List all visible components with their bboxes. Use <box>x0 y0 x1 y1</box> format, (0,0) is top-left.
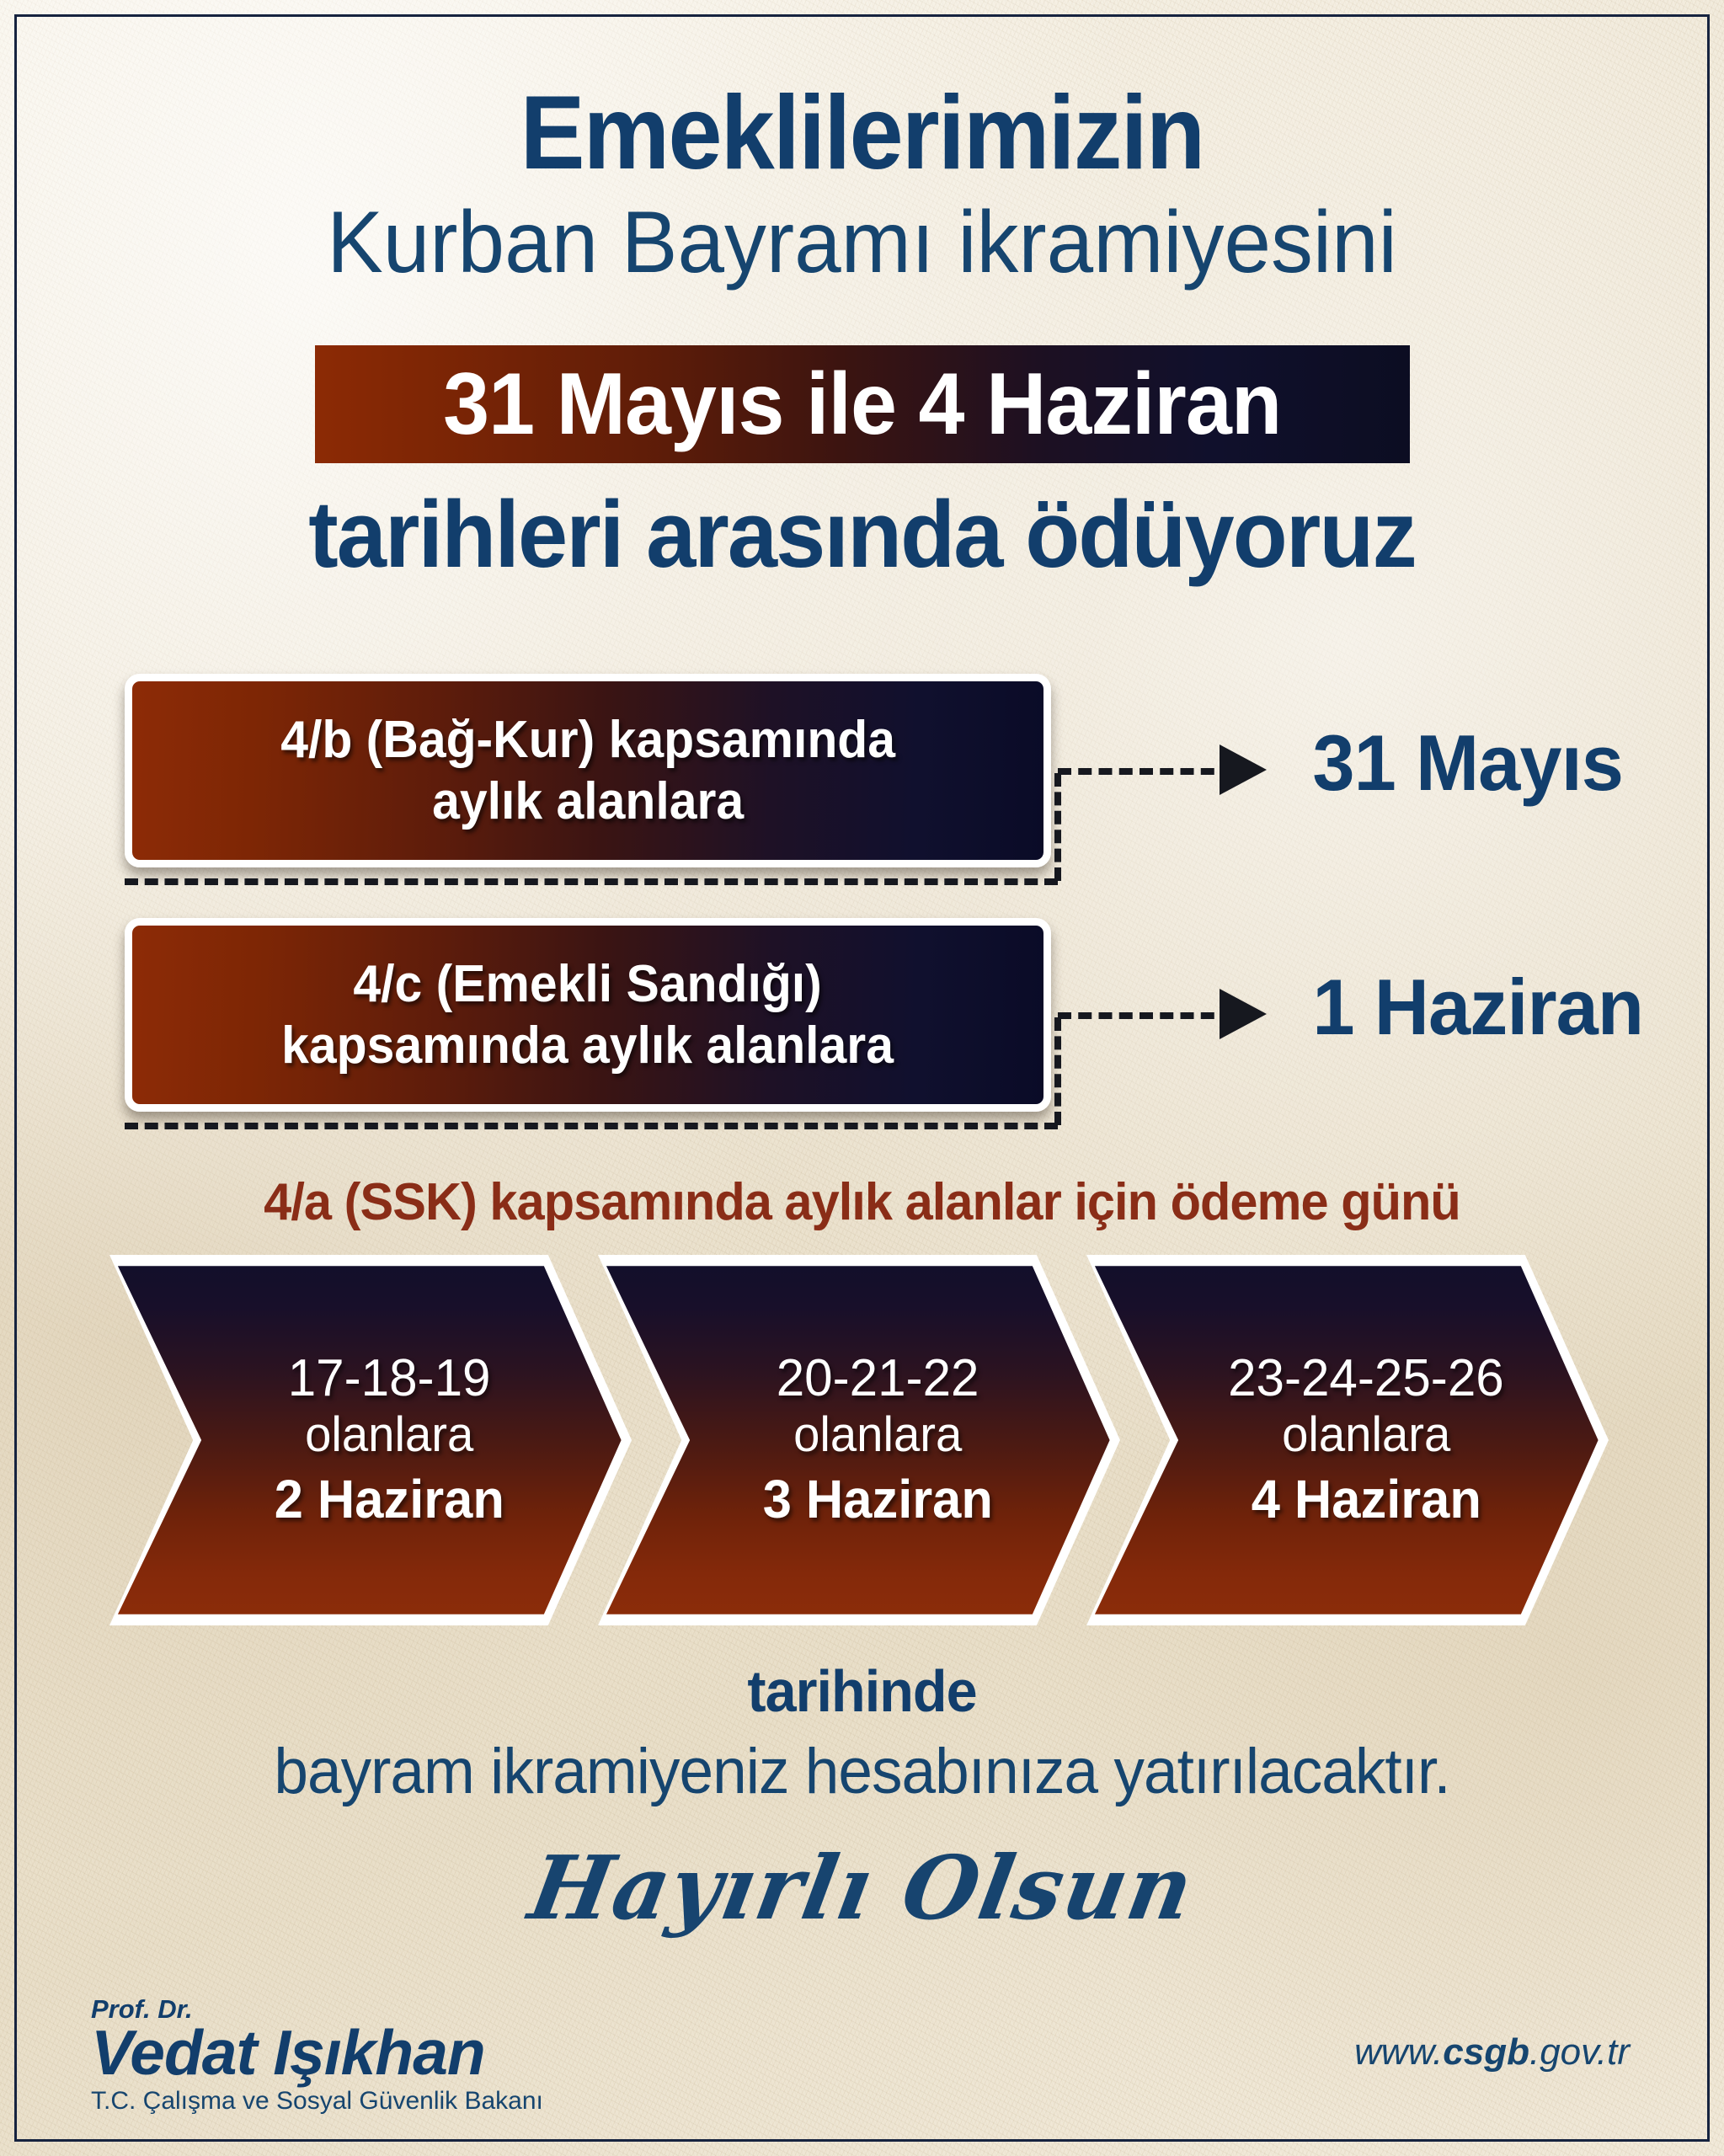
payment-row-bagkur: 4/b (Bağ-Kur) kapsamında aylık alanlara … <box>125 674 1607 884</box>
connector-dash-horizontal <box>125 878 1058 885</box>
ssk-chevron-step-3-body: 23-24-25-26 olanlara 4 Haziran <box>1086 1255 1609 1625</box>
ssk-chevron-step-3-days: 23-24-25-26 <box>1228 1350 1504 1407</box>
connector-dash-arrow-line <box>1058 1012 1235 1033</box>
category-card-emekli-sandigi-line-2: kapsamında aylık alanlara <box>282 1015 894 1076</box>
connector-dash-arrow-line <box>1058 768 1235 788</box>
ssk-chevron-step-1-body: 17-18-19 olanlara 2 Haziran <box>109 1255 632 1625</box>
footer-url-prefix: www. <box>1354 2031 1443 2073</box>
arrow-right-icon <box>1220 989 1267 1039</box>
ssk-section-heading: 4/a (SSK) kapsamında aylık alanlar için … <box>35 1172 1689 1232</box>
category-card-emekli-sandigi-line-1: 4/c (Emekli Sandığı) <box>282 953 894 1015</box>
connector-dash-vertical <box>1054 773 1061 881</box>
ssk-chevron-step-1-date: 2 Haziran <box>274 1469 504 1531</box>
footer-minister-role: T.C. Çalışma ve Sosyal Güvenlik Bakanı <box>91 2087 543 2116</box>
date-range-banner-text: 31 Mayıs ile 4 Haziran <box>443 355 1281 455</box>
infographic-poster: Emeklilerimizin Kurban Bayramı ikramiyes… <box>0 0 1724 2156</box>
connector-dash-vertical <box>1054 1017 1061 1125</box>
ssk-chevron-group: 17-18-19 olanlara 2 Haziran 20-21-22 ola… <box>109 1255 1617 1625</box>
ssk-chevron-step-2-body: 20-21-22 olanlara 3 Haziran <box>598 1255 1120 1625</box>
ssk-chevron-step-1-middle: olanlara <box>305 1407 473 1464</box>
closing-line-1: tarihinde <box>43 1657 1681 1725</box>
page-title-line-3: tarihleri arasında ödüyoruz <box>43 480 1681 589</box>
ssk-chevron-step-3-middle: olanlara <box>1282 1407 1450 1464</box>
ssk-chevron-step-2-date: 3 Haziran <box>762 1469 992 1531</box>
ssk-chevron-step-2: 20-21-22 olanlara 3 Haziran <box>598 1255 1120 1625</box>
page-title-line-2: Kurban Bayramı ikramiyesini <box>35 195 1689 290</box>
signature-script-text: Hayırlı Olsun <box>8 1836 1716 1940</box>
arrow-right-icon <box>1220 744 1267 795</box>
footer-website-url[interactable]: www.csgb.gov.tr <box>1354 2031 1630 2073</box>
header-block: Emeklilerimizin Kurban Bayramı ikramiyes… <box>0 81 1724 290</box>
payment-date-bagkur: 31 Mayıs <box>1312 718 1724 808</box>
connector-dash-horizontal <box>125 1123 1058 1129</box>
category-card-bagkur-line-1: 4/b (Bağ-Kur) kapsamında <box>280 709 895 771</box>
payment-row-emekli-sandigi: 4/c (Emekli Sandığı) kapsamında aylık al… <box>125 918 1607 1129</box>
footer-minister-block: Prof. Dr. Vedat Işıkhan T.C. Çalışma ve … <box>91 1994 543 2116</box>
footer-minister-name: Vedat Işıkhan <box>91 2020 543 2085</box>
ssk-chevron-step-2-days: 20-21-22 <box>777 1350 979 1407</box>
category-card-bagkur-line-2: aylık alanlara <box>280 771 895 832</box>
category-card-emekli-sandigi: 4/c (Emekli Sandığı) kapsamında aylık al… <box>125 918 1051 1112</box>
category-card-bagkur-text: 4/b (Bağ-Kur) kapsamında aylık alanlara <box>280 709 895 832</box>
category-card-bagkur: 4/b (Bağ-Kur) kapsamında aylık alanlara <box>125 674 1051 867</box>
payment-date-emekli-sandigi: 1 Haziran <box>1312 962 1724 1053</box>
footer-url-suffix: .gov.tr <box>1529 2031 1630 2073</box>
date-range-banner: 31 Mayıs ile 4 Haziran <box>315 345 1410 463</box>
page-title-line-1: Emeklilerimizin <box>61 81 1664 185</box>
ssk-chevron-step-1: 17-18-19 olanlara 2 Haziran <box>109 1255 632 1625</box>
footer-url-brand: csgb <box>1443 2031 1529 2073</box>
ssk-chevron-step-3-date: 4 Haziran <box>1251 1469 1481 1531</box>
category-card-emekli-sandigi-text: 4/c (Emekli Sandığı) kapsamında aylık al… <box>282 953 894 1076</box>
ssk-chevron-step-2-middle: olanlara <box>793 1407 962 1464</box>
ssk-chevron-step-3: 23-24-25-26 olanlara 4 Haziran <box>1086 1255 1609 1625</box>
closing-line-2: bayram ikramiyeniz hesabınıza yatırılaca… <box>35 1735 1689 1808</box>
ssk-chevron-step-1-days: 17-18-19 <box>288 1350 491 1407</box>
